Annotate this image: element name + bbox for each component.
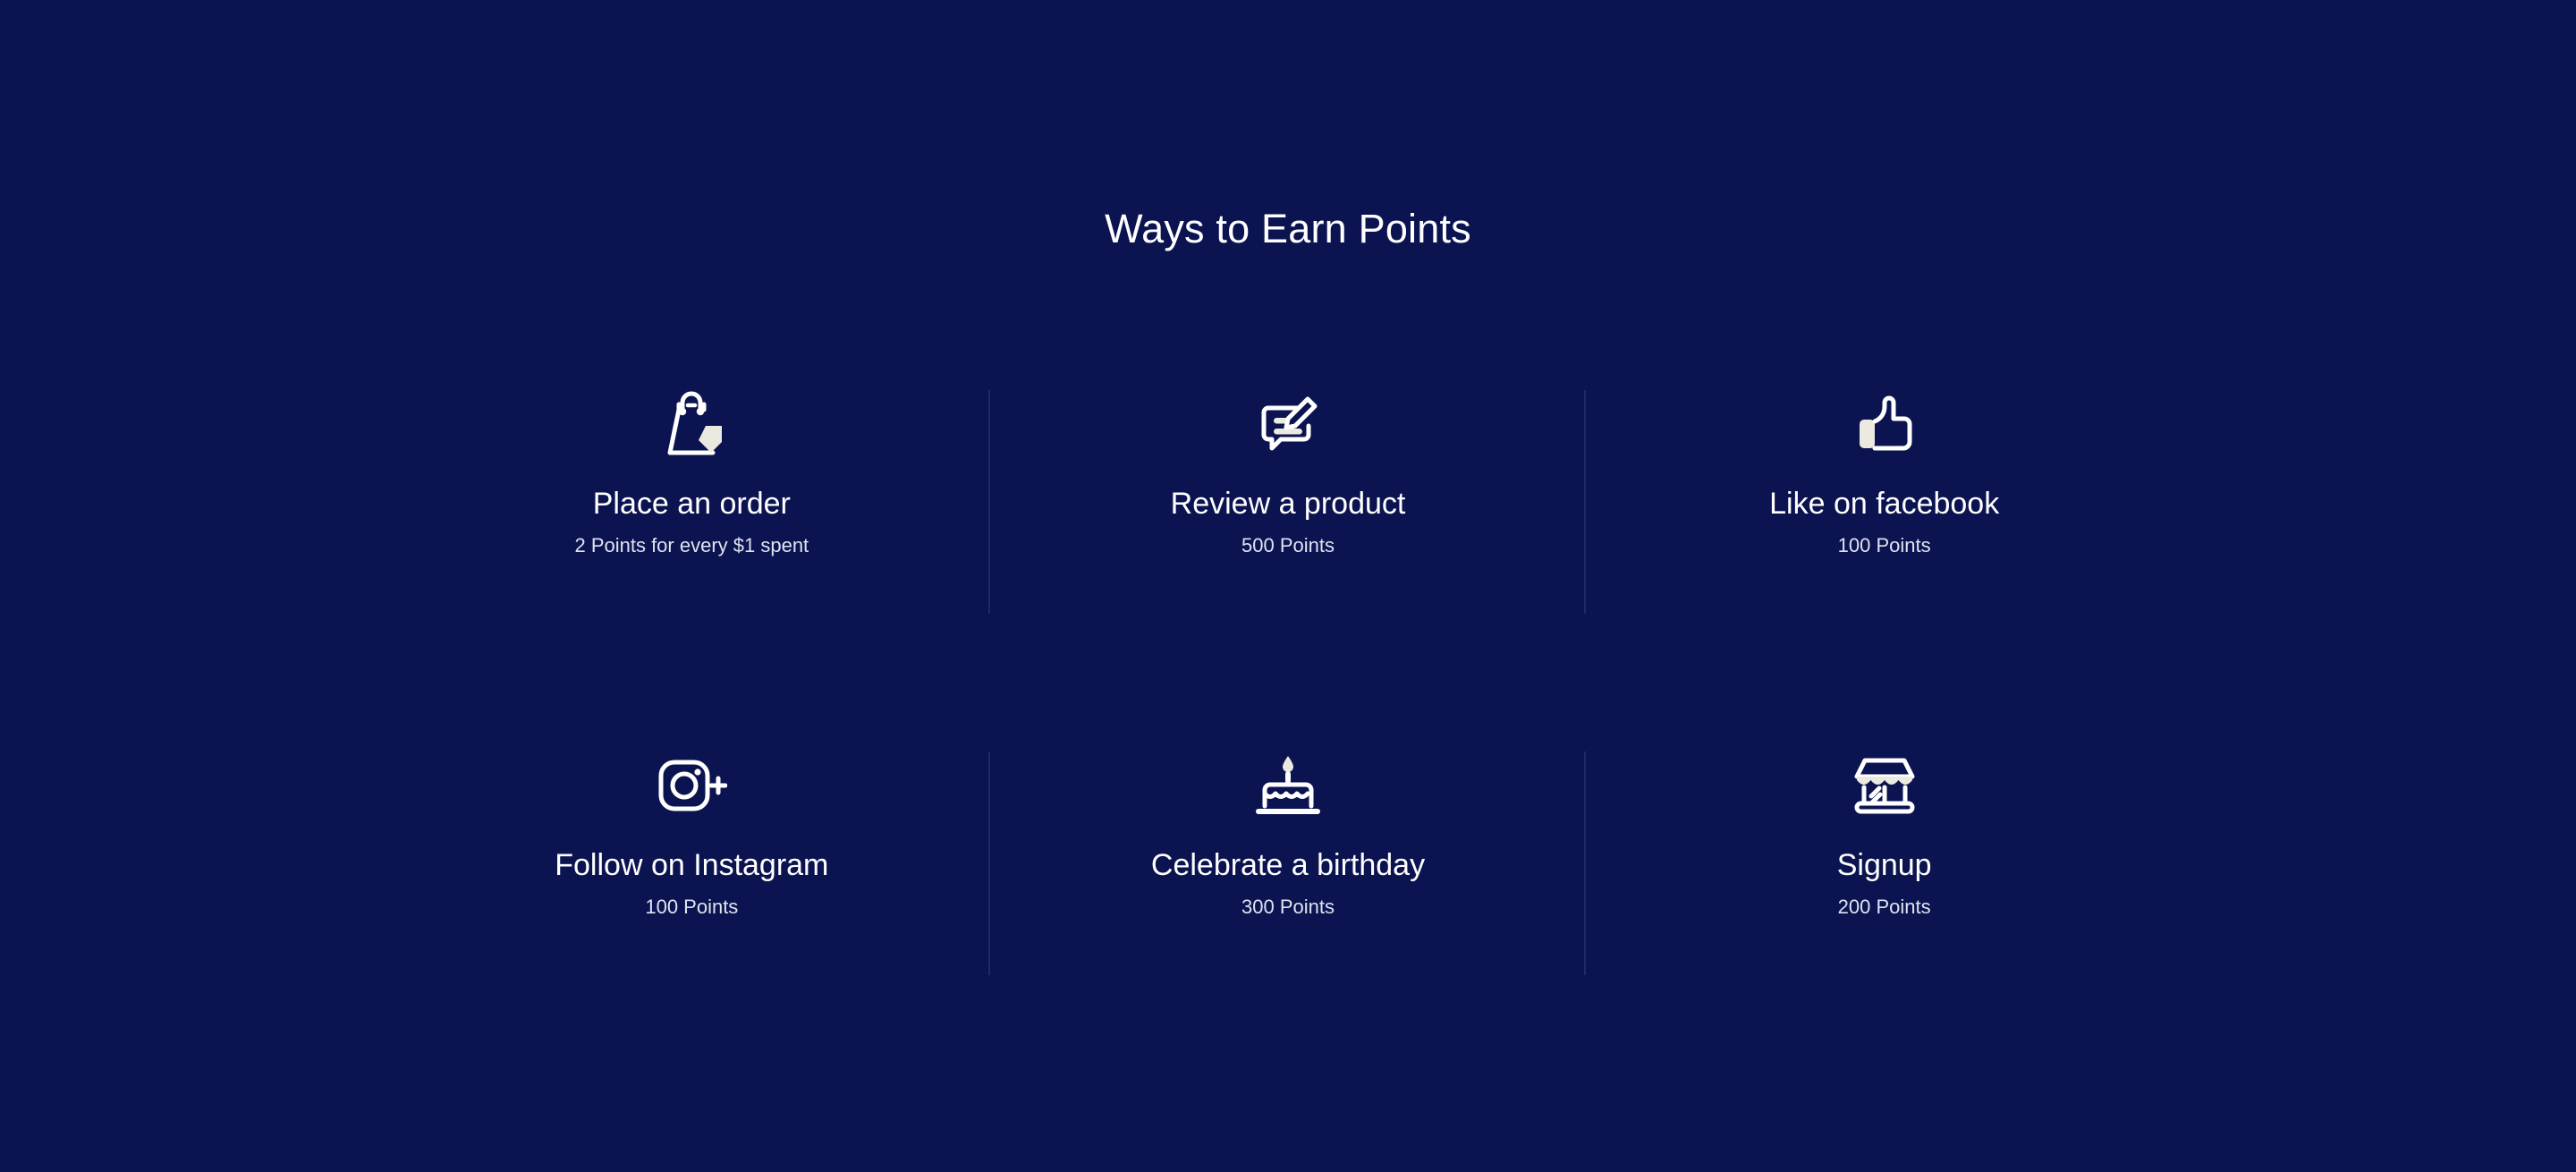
earn-card-like-on-facebook[interactable]: Like on facebook 100 Points: [1586, 358, 2182, 632]
shopping-bag-tag-icon: [659, 383, 724, 465]
earn-card-title: Review a product: [1171, 485, 1406, 522]
earn-card-review-a-product[interactable]: Review a product 500 Points: [990, 358, 1587, 632]
earn-card-title: Like on facebook: [1769, 485, 1999, 522]
earn-card-points: 100 Points: [645, 895, 738, 920]
earn-card-points: 500 Points: [1241, 533, 1335, 558]
earn-card-place-an-order[interactable]: Place an order 2 Points for every $1 spe…: [394, 358, 990, 632]
earn-card-points: 300 Points: [1241, 895, 1335, 920]
earn-card-title: Follow on Instagram: [555, 846, 828, 884]
earn-card-celebrate-a-birthday[interactable]: Celebrate a birthday 300 Points: [990, 719, 1587, 993]
earn-card-follow-on-instagram[interactable]: Follow on Instagram 100 Points: [394, 719, 990, 993]
earn-points-section: Ways to Earn Points Place an order 2 Poi…: [0, 0, 2576, 1172]
earn-card-title: Place an order: [593, 485, 791, 522]
earn-card-title: Signup: [1837, 846, 1932, 884]
storefront-icon: [1850, 744, 1919, 827]
earn-card-points: 2 Points for every $1 spent: [574, 533, 809, 558]
earn-card-signup[interactable]: Signup 200 Points: [1586, 719, 2182, 993]
earn-card-points: 100 Points: [1838, 533, 1931, 558]
birthday-cake-icon: [1253, 744, 1323, 827]
instagram-plus-icon: [656, 744, 727, 827]
review-pencil-icon: [1256, 383, 1320, 465]
earn-card-title: Celebrate a birthday: [1151, 846, 1425, 884]
ways-to-earn-grid: Place an order 2 Points for every $1 spe…: [394, 358, 2182, 993]
earn-card-points: 200 Points: [1838, 895, 1931, 920]
thumbs-up-icon: [1854, 383, 1915, 465]
page-title: Ways to Earn Points: [0, 204, 2576, 254]
